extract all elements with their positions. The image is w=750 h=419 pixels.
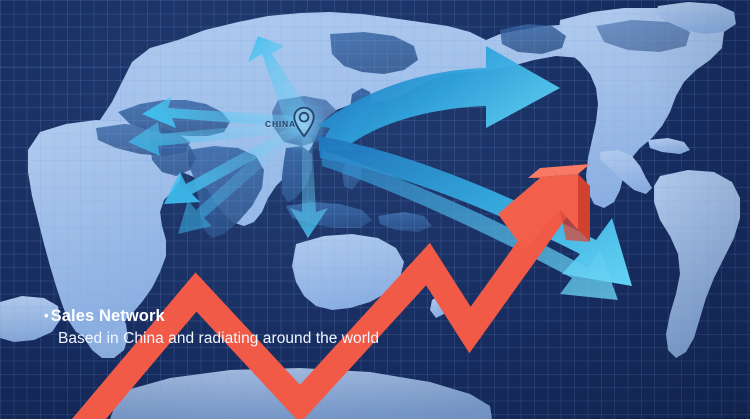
caption-block: •Sales Network Based in China and radiat… [44,306,379,349]
caption-subtitle: Based in China and radiating around the … [58,328,379,349]
world-map-banner: CHINA •Sales Network Based in China and … [0,0,750,419]
caption-title-row: •Sales Network [44,306,379,326]
page-title: Sales Network [51,307,165,325]
bullet-icon: • [44,308,49,323]
caption-layer: •Sales Network Based in China and radiat… [0,0,750,419]
